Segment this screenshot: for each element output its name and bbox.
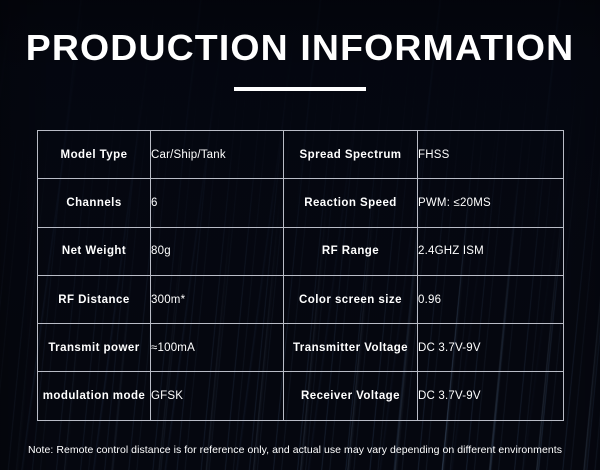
table-row: RF Distance 300m* Color screen size 0.96	[38, 275, 564, 323]
spec-label-net-weight: Net Weight	[38, 227, 151, 275]
table-row: Transmit power ≈100mA Transmitter Voltag…	[38, 324, 564, 372]
spec-value-rf-range: 2.4GHZ ISM	[418, 227, 564, 275]
spec-label-model-type: Model Type	[38, 131, 151, 179]
spec-value-transmitter-voltage: DC 3.7V-9V	[418, 324, 564, 372]
page-title: PRODUCTION INFORMATION	[0, 28, 600, 68]
spec-label-transmit-power: Transmit power	[38, 324, 151, 372]
table-row: Model Type Car/Ship/Tank Spread Spectrum…	[38, 131, 564, 179]
spec-label-reaction-speed: Reaction Speed	[284, 179, 418, 227]
spec-label-spread-spectrum: Spread Spectrum	[284, 131, 418, 179]
title-underline-rule	[234, 87, 366, 91]
spec-value-color-screen-size: 0.96	[418, 275, 564, 323]
spec-value-receiver-voltage: DC 3.7V-9V	[418, 372, 564, 420]
footnote-note: Note: Remote control distance is for ref…	[28, 444, 562, 456]
spec-value-transmit-power: ≈100mA	[151, 324, 284, 372]
spec-value-model-type: Car/Ship/Tank	[151, 131, 284, 179]
spec-label-rf-range: RF Range	[284, 227, 418, 275]
spec-value-rf-distance: 300m*	[151, 275, 284, 323]
table-row: Channels 6 Reaction Speed PWM: ≤20MS	[38, 179, 564, 227]
table-row: modulation mode GFSK Receiver Voltage DC…	[38, 372, 564, 420]
table-row: Net Weight 80g RF Range 2.4GHZ ISM	[38, 227, 564, 275]
spec-label-transmitter-voltage: Transmitter Voltage	[284, 324, 418, 372]
spec-value-modulation-mode: GFSK	[151, 372, 284, 420]
spec-value-channels: 6	[151, 179, 284, 227]
spec-label-color-screen-size: Color screen size	[284, 275, 418, 323]
specification-table: Model Type Car/Ship/Tank Spread Spectrum…	[37, 130, 564, 421]
spec-value-net-weight: 80g	[151, 227, 284, 275]
spec-label-modulation-mode: modulation mode	[38, 372, 151, 420]
spec-value-spread-spectrum: FHSS	[418, 131, 564, 179]
spec-label-receiver-voltage: Receiver Voltage	[284, 372, 418, 420]
spec-value-reaction-speed: PWM: ≤20MS	[418, 179, 564, 227]
spec-label-channels: Channels	[38, 179, 151, 227]
spec-label-rf-distance: RF Distance	[38, 275, 151, 323]
specification-table-body: Model Type Car/Ship/Tank Spread Spectrum…	[38, 131, 564, 421]
